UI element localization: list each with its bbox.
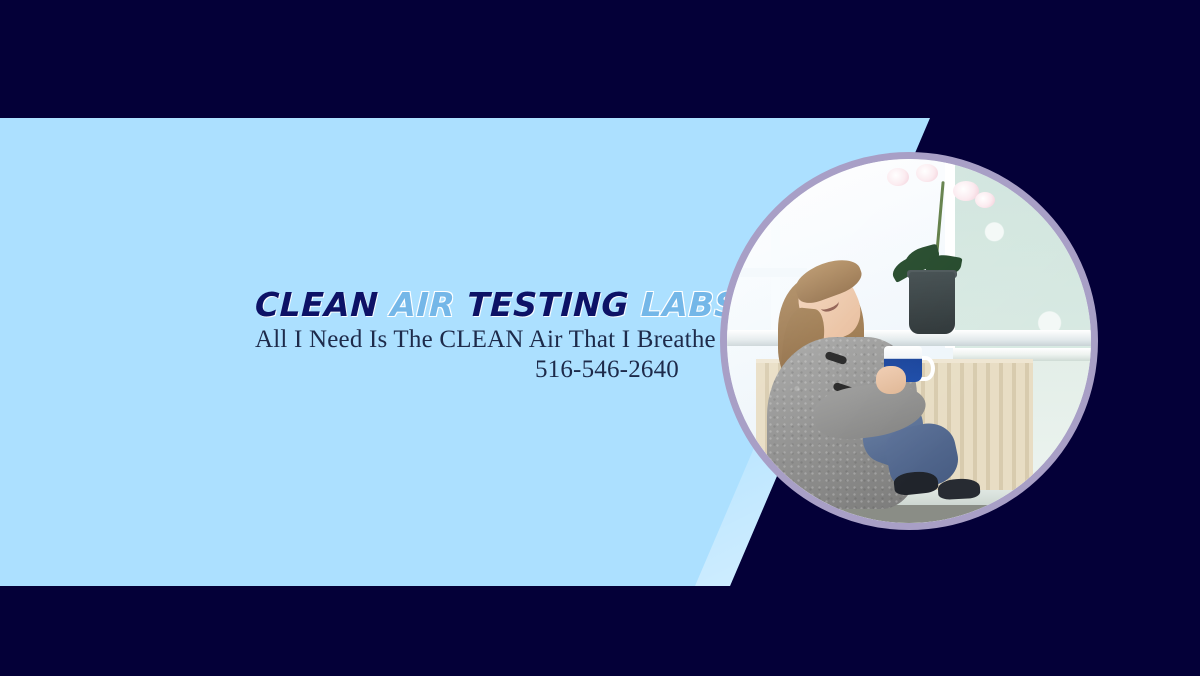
orchid-bloom bbox=[975, 192, 995, 208]
logo-word-air: AIR bbox=[390, 285, 456, 324]
logo-word-clean: CLEAN bbox=[254, 285, 379, 324]
logo-block: CLEAN AIR TESTING LABS All I Need Is The… bbox=[255, 288, 685, 384]
logo-wordmark: CLEAN AIR TESTING LABS bbox=[254, 288, 685, 322]
floor bbox=[727, 505, 1091, 523]
window-mullion bbox=[771, 159, 780, 334]
plant-pot bbox=[909, 272, 955, 334]
window-sash bbox=[734, 268, 807, 277]
hero-banner: CLEAN AIR TESTING LABS All I Need Is The… bbox=[0, 0, 1200, 676]
logo-word-testing: TESTING bbox=[467, 285, 630, 324]
photo-scene bbox=[727, 159, 1091, 523]
logo-tagline: All I Need Is The CLEAN Air That I Breat… bbox=[255, 326, 685, 354]
woman-shoe bbox=[938, 478, 981, 500]
woman-hand bbox=[876, 366, 906, 394]
hero-photo bbox=[727, 159, 1091, 523]
phone-number: 516-546-2640 bbox=[255, 356, 685, 384]
hero-photo-circle bbox=[720, 152, 1098, 530]
